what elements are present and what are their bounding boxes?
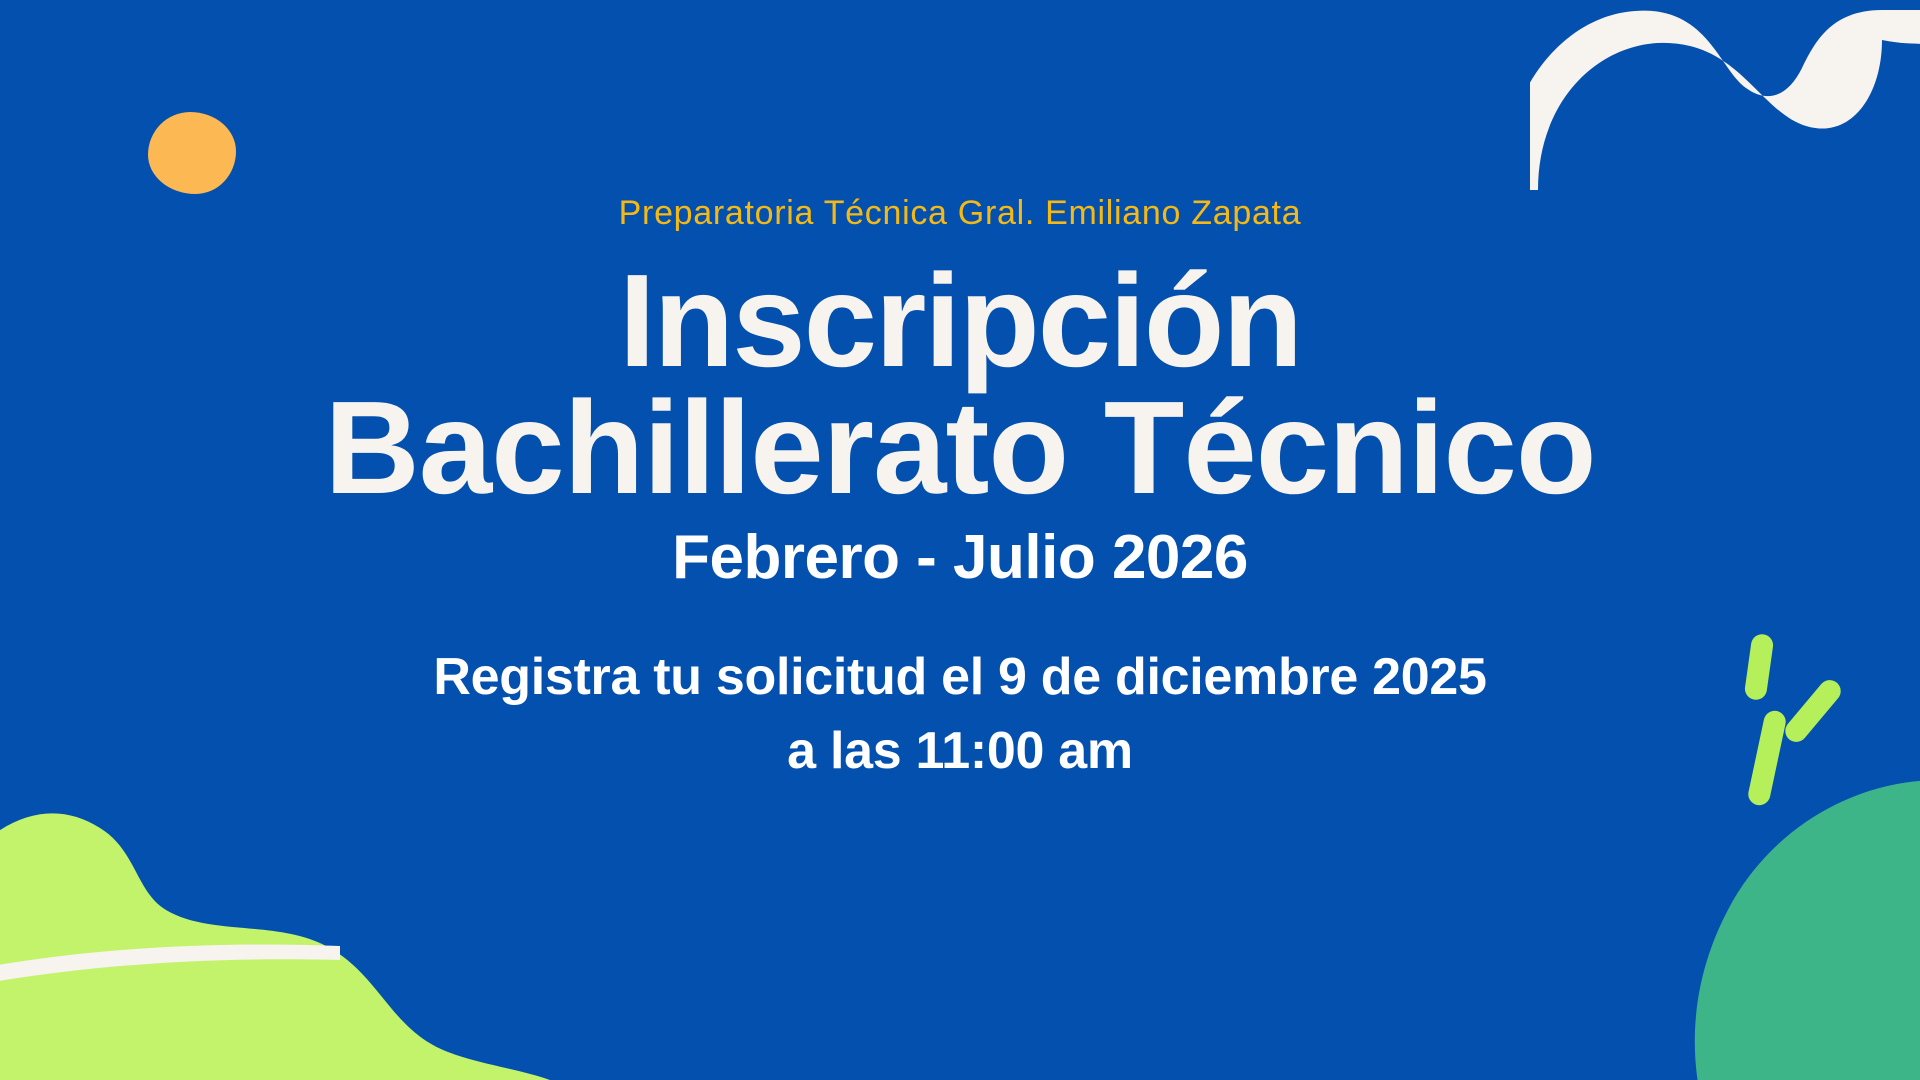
callout-line-2: a las 11:00 am xyxy=(433,715,1486,789)
callout-line-1: Registra tu solicitud el 9 de diciembre … xyxy=(433,641,1486,715)
promo-poster: Preparatoria Técnica Gral. Emiliano Zapa… xyxy=(0,0,1920,1080)
school-name-eyebrow: Preparatoria Técnica Gral. Emiliano Zapa… xyxy=(619,196,1302,230)
headline-line-2: Bachillerato Técnico xyxy=(324,385,1595,512)
page-title: Inscripción Bachillerato Técnico xyxy=(324,258,1595,511)
registration-callout: Registra tu solicitud el 9 de diciembre … xyxy=(433,641,1486,789)
headline-line-1: Inscripción xyxy=(324,258,1595,385)
poster-content: Preparatoria Técnica Gral. Emiliano Zapa… xyxy=(0,0,1920,1080)
term-period: Febrero - Julio 2026 xyxy=(672,527,1248,589)
